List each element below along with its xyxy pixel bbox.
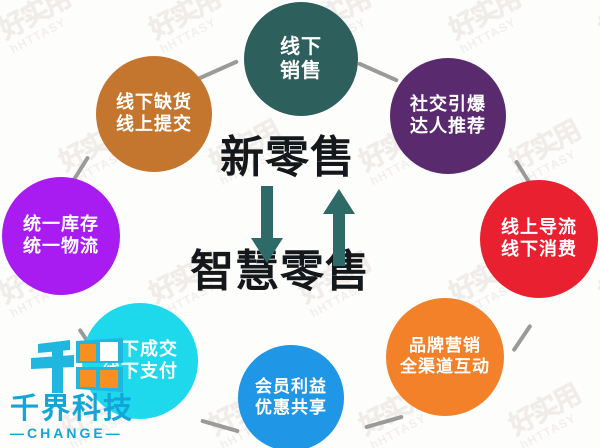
node-brand-marketing[interactable]: 品牌营销全渠道互动 (386, 298, 504, 416)
connector-dash (197, 59, 239, 81)
brand-logo: 千界科技 —CHANGE— (8, 342, 150, 442)
node-online-traffic[interactable]: 线上导流线下消费 (480, 180, 598, 298)
node-label-line: 销售 (280, 59, 322, 83)
node-label-line: 统一物流 (23, 236, 99, 258)
arrow-up-icon (322, 188, 356, 266)
watermark-tile: 好实用hHTTASY (595, 0, 600, 55)
connector-dash (511, 324, 532, 353)
connector-dash (200, 419, 240, 434)
watermark-tile: 好实用hHTTASY (445, 0, 530, 55)
watermark-tile: 好实用hHTTASY (505, 381, 590, 448)
node-label-line: 线下缺货 (116, 92, 192, 114)
node-label-line: 品牌营销 (409, 336, 481, 357)
node-label-line: 线上导流 (501, 217, 577, 239)
node-offline-stockout[interactable]: 线下缺货线上提交 (96, 56, 212, 172)
qianjie-window-icon (30, 338, 126, 394)
node-label-line: 社交引爆 (410, 94, 486, 116)
watermark-tile: 好实用hHTTASY (595, 249, 600, 320)
connector-dash (357, 61, 399, 83)
arrow-down-icon (250, 186, 284, 264)
node-label-line: 统一库存 (23, 214, 99, 236)
connector-dash (364, 415, 404, 430)
node-label-line: 优惠共享 (255, 398, 327, 419)
node-label-line: 全渠道互动 (400, 357, 490, 378)
node-label-line: 线下 (280, 35, 322, 59)
node-offline-sales[interactable]: 线下销售 (244, 2, 358, 116)
brand-name-en: —CHANGE— (10, 426, 123, 440)
node-unified-inventory[interactable]: 统一库存统一物流 (2, 177, 120, 295)
node-label-line: 达人推荐 (410, 116, 486, 138)
node-label-line: 线上提交 (116, 114, 192, 136)
watermark-tile: 好实用hHTTASY (145, 0, 230, 55)
node-label-line: 会员利益 (255, 377, 327, 398)
watermark-tile: 好实用hHTTASY (505, 117, 590, 188)
infographic-canvas: 好实用hHTTASY好实用hHTTASY好实用hHTTASY好实用hHTTASY… (0, 0, 600, 448)
centre-block: 新零售 智慧零售 (196, 136, 414, 312)
node-member-benefit[interactable]: 会员利益优惠共享 (238, 345, 344, 448)
brand-name-cn: 千界科技 (10, 394, 134, 423)
page-title-new-retail: 新零售 (220, 136, 355, 180)
watermark-tile: 好实用hHTTASY (0, 0, 80, 55)
node-label-line: 线下消费 (501, 239, 577, 261)
